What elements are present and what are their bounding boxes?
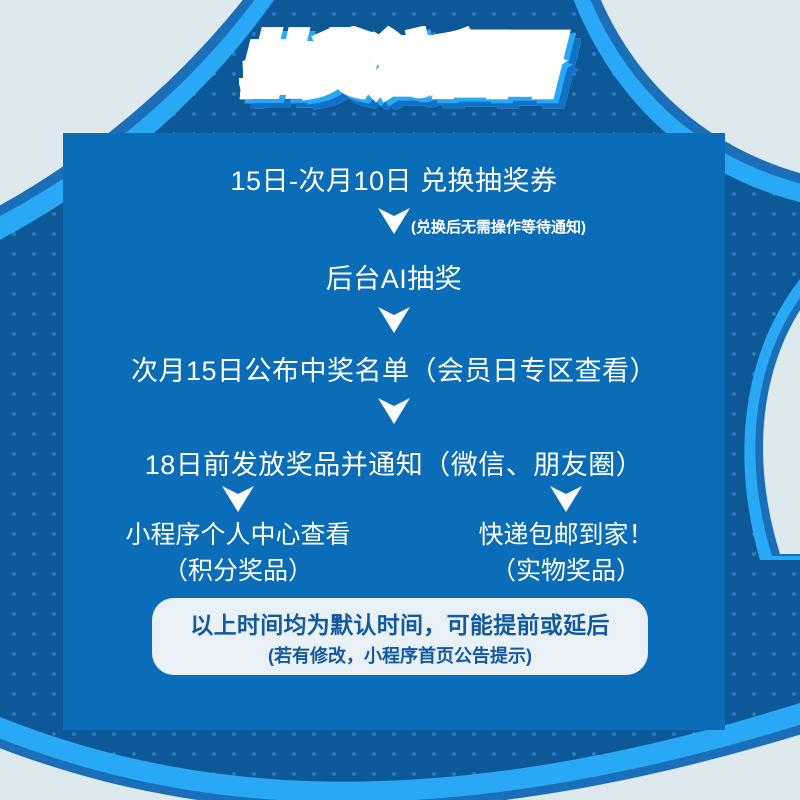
flow-branch-left-line1: 小程序个人中心查看 [108,518,368,554]
title-text: 抽奖流程图 [245,31,555,101]
chevron-down-icon [377,207,411,235]
flow-branch-right-line1: 快递包邮到家！ [436,518,696,554]
flow-branch-right-line2: （实物奖品） [436,554,696,590]
title-stack: 抽奖流程图 抽奖流程图 抽奖流程图 抽奖流程图 抽奖流程图 [245,36,555,96]
lottery-flowchart-poster: 抽奖流程图 抽奖流程图 抽奖流程图 抽奖流程图 抽奖流程图 15日-次月10日 … [0,0,800,800]
flow-step-4: 18日前发放奖品并通知（微信、朋友圈） [63,443,725,482]
page-title: 抽奖流程图 抽奖流程图 抽奖流程图 抽奖流程图 抽奖流程图 [0,26,800,106]
flow-branch-left-line2: （积分奖品） [108,554,368,590]
footer-note-line1: 以上时间均为默认时间，可能提前或延后 [190,606,609,640]
footer-note-box: 以上时间均为默认时间，可能提前或延后 (若有修改，小程序首页公告提示) [152,598,648,675]
flow-step-3: 次月15日公布中奖名单（会员日专区查看） [63,349,725,388]
chevron-down-icon [549,485,583,513]
flow-step-1-side-note: (兑换后无需操作等待通知) [411,216,586,237]
chevron-down-icon [221,485,255,513]
flow-branch-left: 小程序个人中心查看 （积分奖品） [108,518,368,589]
chevron-down-icon [377,306,411,334]
flow-step-1: 15日-次月10日 兑换抽奖券 [63,159,725,198]
flow-step-2: 后台AI抽奖 [63,257,725,296]
footer-note-line2: (若有修改，小程序首页公告提示) [268,642,532,668]
flow-branch-right: 快递包邮到家！ （实物奖品） [436,518,696,589]
chevron-down-icon [377,397,411,425]
